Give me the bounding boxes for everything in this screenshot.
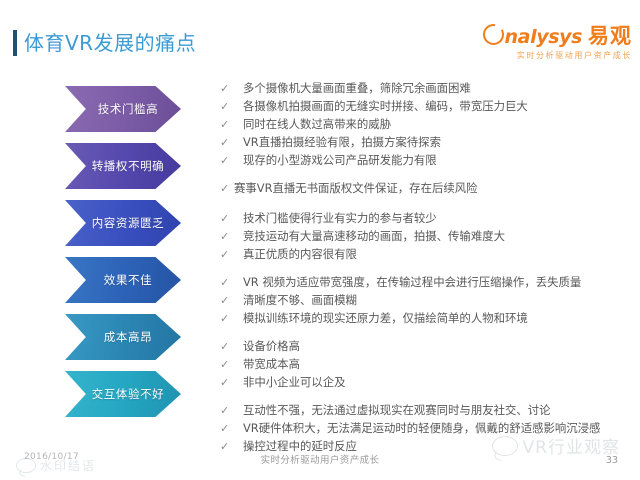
check-icon: ✓: [220, 338, 232, 355]
check-icon: ✓: [220, 246, 232, 263]
bullet-row: ✓ VR 视频为适应带宽强度，在传输过程中会进行压缩操作，丢失质量: [220, 274, 640, 291]
page-title: 体育VR发展的痛点: [13, 30, 196, 56]
bullet-text: 多个摄像机大量画面重叠，筛除冗余画面困难: [243, 80, 471, 97]
bullet-text: 竞技运动有大量高速移动的画面，拍摄、传输难度大: [243, 228, 505, 245]
bullet-row: ✓ 竞技运动有大量高速移动的画面，拍摄、传输难度大: [220, 228, 640, 245]
bullet-text: 技术门槛使得行业有实力的参与者较少: [243, 210, 437, 227]
source-watermark: 水印结语: [16, 457, 96, 474]
bullet-text: 真正优质的内容很有限: [243, 246, 357, 263]
bullet-row: ✓ 同时在线人数过高带来的威胁: [220, 116, 640, 133]
bullet-text: 互动性不强，无法通过虚拟现实在观赛同时与朋友社交、讨论: [243, 402, 551, 419]
bullet-text: 现存的小型游戏公司产品研发能力有限: [243, 152, 437, 169]
chevron-label: 交互体验不好: [92, 386, 165, 402]
logo-cn-text: 易观: [588, 26, 632, 47]
bullet-groups: ✓ 多个摄像机大量画面重叠，筛除冗余画面困难 ✓ 各摄像机拍摄画面的无缝实时拼接…: [220, 80, 640, 466]
check-icon: ✓: [220, 402, 232, 419]
page-number: 33: [606, 455, 618, 466]
chevron-item[interactable]: 技术门槛高: [65, 86, 181, 132]
bullet-group: ✓ VR 视频为适应带宽强度，在传输过程中会进行压缩操作，丢失质量 ✓ 清晰度不…: [220, 274, 640, 327]
bullet-text: 赛事VR直播无书面版权文件保证，存在后续风险: [234, 180, 478, 197]
chevron-label: 转播权不明确: [92, 158, 165, 174]
bullet-row: ✓ 多个摄像机大量画面重叠，筛除冗余画面困难: [220, 80, 640, 97]
bullet-row: ✓ VR直播拍摄经验有限，拍摄方案待探索: [220, 134, 640, 151]
bullet-text: 带宽成本高: [243, 356, 300, 373]
slide-canvas: 体育VR发展的痛点 nalysys 易观 实时分析驱动用户资产成长 技术门槛高 …: [0, 0, 640, 480]
check-icon: ✓: [220, 356, 232, 373]
check-icon: ✓: [220, 310, 232, 327]
bullet-text: 模拟训练环境的现实还原力差，仅描绘简单的人物和环境: [243, 310, 528, 327]
check-icon: ✓: [220, 292, 232, 309]
bullet-group: ✓ 技术门槛使得行业有实力的参与者较少 ✓ 竞技运动有大量高速移动的画面，拍摄、…: [220, 210, 640, 263]
chevron-item[interactable]: 交互体验不好: [65, 371, 181, 417]
logo-en-text: nalysys: [505, 28, 582, 47]
check-icon: ✓: [220, 116, 232, 133]
check-icon: ✓: [220, 228, 232, 245]
check-icon: ✓: [220, 274, 232, 291]
bullet-row: ✓ 非中小企业可以企及: [220, 374, 640, 391]
analysys-logo: nalysys 易观 实时分析驱动用户资产成长: [483, 22, 632, 61]
bullet-text: 设备价格高: [243, 338, 300, 355]
bullet-row: ✓ 带宽成本高: [220, 356, 640, 373]
bullet-row: ✓ 赛事VR直播无书面版权文件保证，存在后续风险: [220, 180, 640, 197]
chevron-label: 效果不佳: [104, 272, 152, 288]
chevron-label: 内容资源匮乏: [92, 215, 165, 231]
chevron-label: 成本高昂: [104, 329, 152, 345]
bullet-text: 同时在线人数过高带来的威胁: [243, 116, 391, 133]
check-icon: ✓: [220, 374, 232, 391]
bullet-text: 各摄像机拍摄画面的无缝实时拼接、编码，带宽压力巨大: [243, 98, 528, 115]
slide-header: 体育VR发展的痛点 nalysys 易观 实时分析驱动用户资产成长: [0, 0, 640, 72]
bullet-row: ✓ 设备价格高: [220, 338, 640, 355]
title-accent-bar: [13, 30, 17, 56]
bullet-row: ✓ 技术门槛使得行业有实力的参与者较少: [220, 210, 640, 227]
pain-point-chevron-list: 技术门槛高 转播权不明确 内容资源匮乏 效果不佳 成本高昂 交互体验不好: [0, 86, 205, 428]
bullet-text: 清晰度不够、画面模糊: [243, 292, 357, 309]
check-icon: ✓: [220, 420, 232, 437]
chevron-label: 技术门槛高: [98, 101, 159, 117]
logo-lockup: nalysys 易观: [483, 22, 632, 47]
bullet-row: ✓ 互动性不强，无法通过虚拟现实在观赛同时与朋友社交、讨论: [220, 402, 640, 419]
title-text: 体育VR发展的痛点: [24, 31, 196, 55]
bullet-row: ✓ 清晰度不够、画面模糊: [220, 292, 640, 309]
bullet-group: ✓ 设备价格高 ✓ 带宽成本高 ✓ 非中小企业可以企及: [220, 338, 640, 391]
check-icon: ✓: [220, 210, 232, 227]
bullet-row: ✓ 真正优质的内容很有限: [220, 246, 640, 263]
bullet-text: 非中小企业可以企及: [243, 374, 346, 391]
bullet-group: ✓ 赛事VR直播无书面版权文件保证，存在后续风险: [220, 180, 640, 197]
check-icon: ✓: [220, 152, 232, 169]
bullet-row: ✓ 各摄像机拍摄画面的无缝实时拼接、编码，带宽压力巨大: [220, 98, 640, 115]
watermark-icon: [16, 458, 36, 473]
chevron-item[interactable]: 内容资源匮乏: [65, 200, 181, 246]
bullet-text: VR 视频为适应带宽强度，在传输过程中会进行压缩操作，丢失质量: [243, 274, 581, 291]
circle-a-icon: [483, 24, 504, 45]
bullet-row: ✓ 现存的小型游戏公司产品研发能力有限: [220, 152, 640, 169]
bullet-group: ✓ 多个摄像机大量画面重叠，筛除冗余画面困难 ✓ 各摄像机拍摄画面的无缝实时拼接…: [220, 80, 640, 169]
chevron-item[interactable]: 成本高昂: [65, 314, 181, 360]
chevron-item[interactable]: 效果不佳: [65, 257, 181, 303]
check-icon: ✓: [220, 134, 232, 151]
source-watermark-text: 水印结语: [40, 457, 96, 474]
check-icon: ✓: [220, 80, 232, 97]
bullet-text: VR直播拍摄经验有限，拍摄方案待探索: [243, 134, 441, 151]
chevron-item[interactable]: 转播权不明确: [65, 143, 181, 189]
check-icon: ✓: [220, 98, 232, 115]
check-icon: ✓: [220, 180, 232, 197]
logo-tagline: 实时分析驱动用户资产成长: [483, 50, 632, 61]
bullet-row: ✓ 模拟训练环境的现实还原力差，仅描绘简单的人物和环境: [220, 310, 640, 327]
